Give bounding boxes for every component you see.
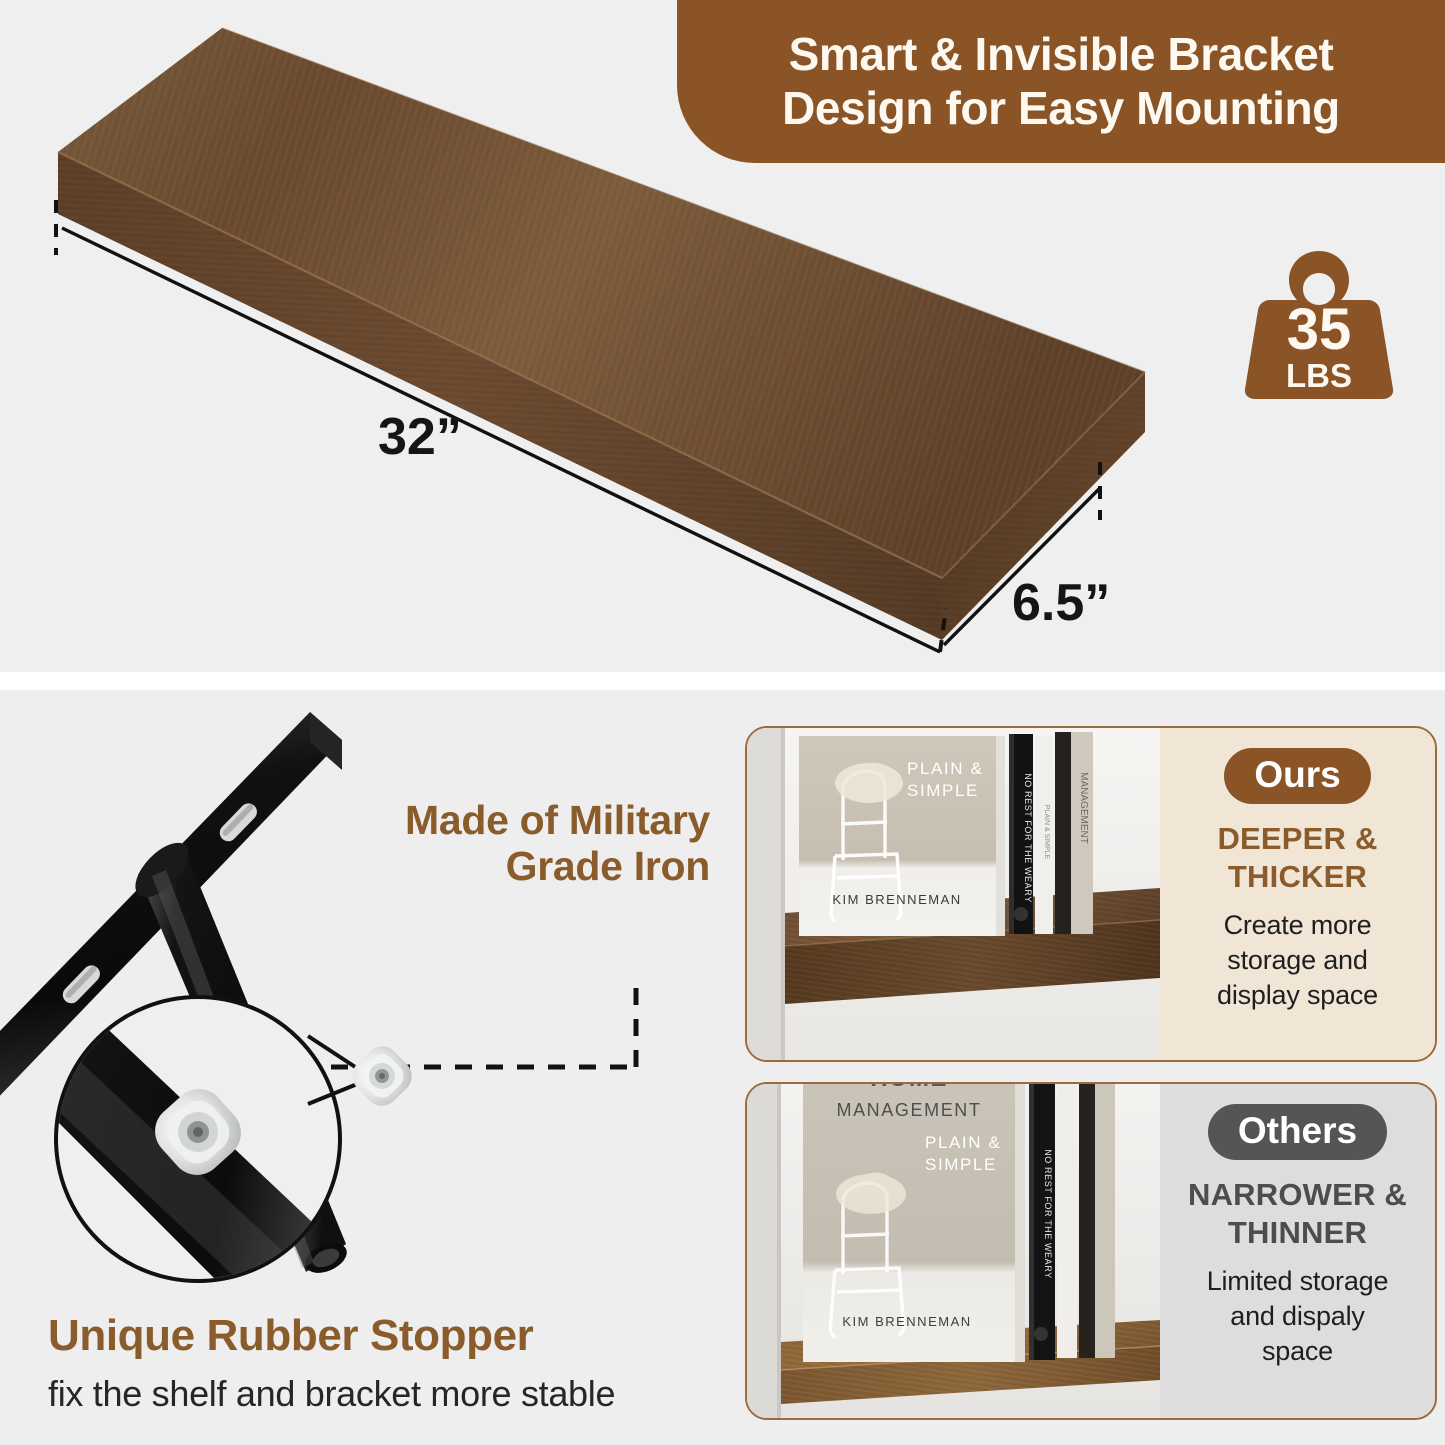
others-photo: HOME MANAGEMENT bbox=[747, 1084, 1160, 1418]
infographic-page: 32” 6.5” Smart & Invisible Bracket Desig… bbox=[0, 0, 1445, 1445]
others-text-panel: Others NARROWER & THINNER Limited storag… bbox=[1160, 1084, 1435, 1418]
book-title-management: MANAGEMENT bbox=[836, 1100, 981, 1120]
military-heading-line-2: Grade Iron bbox=[330, 844, 710, 890]
comparison-card-ours: PLAIN & SIMPLE KIM BRENNEMAN NO REST FOR… bbox=[745, 726, 1437, 1062]
weight-value: 35 bbox=[1287, 297, 1352, 362]
ours-title: DEEPER & THICKER bbox=[1217, 820, 1377, 896]
book-spine-no-rest: NO REST FOR THE WEARY bbox=[1029, 1084, 1055, 1360]
length-dimension-label: 32” bbox=[378, 407, 462, 467]
bracket-comparison-section: Made of Military Grade Iron Unique Rubbe… bbox=[0, 690, 1445, 1445]
weight-icon: 35 LBS bbox=[1241, 247, 1397, 403]
book-home-management: HOME MANAGEMENT bbox=[803, 1084, 1025, 1362]
book-plain-simple: PLAIN & SIMPLE KIM BRENNEMAN bbox=[799, 736, 1005, 936]
ours-title-line-2: THICKER bbox=[1217, 858, 1377, 896]
svg-text:PLAIN & SIMPLE: PLAIN & SIMPLE bbox=[1043, 805, 1050, 860]
header-banner: Smart & Invisible Bracket Design for Eas… bbox=[677, 0, 1445, 163]
book-spine-white bbox=[1057, 1084, 1077, 1358]
others-badge: Others bbox=[1208, 1104, 1387, 1160]
others-title: NARROWER & THINNER bbox=[1188, 1176, 1407, 1252]
weight-unit: LBS bbox=[1286, 357, 1352, 394]
comparison-card-others: HOME MANAGEMENT bbox=[745, 1082, 1437, 1420]
book-spine-no-rest: NO REST FOR THE WEARY bbox=[1009, 734, 1033, 934]
rubber-stopper bbox=[345, 1039, 419, 1113]
others-title-line-2: THINNER bbox=[1188, 1214, 1407, 1252]
book-title-line-2: SIMPLE bbox=[925, 1155, 997, 1174]
book-spine-grey bbox=[1079, 1084, 1115, 1358]
shelf-dimensions-section: 32” 6.5” Smart & Invisible Bracket Desig… bbox=[0, 0, 1445, 672]
military-heading-line-1: Made of Military bbox=[330, 798, 710, 844]
ours-text-panel: Ours DEEPER & THICKER Create more storag… bbox=[1160, 728, 1435, 1060]
depth-dimension-label: 6.5” bbox=[1012, 573, 1110, 633]
others-desc-line-1: Limited storage bbox=[1207, 1264, 1389, 1299]
others-desc-line-2: and dispaly bbox=[1207, 1299, 1389, 1334]
banner-line-2: Design for Easy Mounting bbox=[782, 82, 1340, 135]
svg-text:MANAGEMENT: MANAGEMENT bbox=[1078, 772, 1089, 844]
others-description: Limited storage and dispaly space bbox=[1207, 1264, 1389, 1369]
book-author: KIM BRENNEMAN bbox=[842, 1314, 971, 1329]
svg-text:NO REST FOR THE WEARY: NO REST FOR THE WEARY bbox=[1043, 1149, 1053, 1279]
ours-photo: PLAIN & SIMPLE KIM BRENNEMAN NO REST FOR… bbox=[747, 728, 1160, 1060]
rubber-stopper-heading: Unique Rubber Stopper bbox=[48, 1311, 533, 1361]
others-desc-line-3: space bbox=[1207, 1334, 1389, 1369]
section-divider bbox=[0, 672, 1445, 690]
banner-line-1: Smart & Invisible Bracket bbox=[789, 28, 1334, 81]
others-title-line-1: NARROWER & bbox=[1188, 1176, 1407, 1214]
book-author: KIM BRENNEMAN bbox=[832, 892, 961, 907]
book-spine-white: PLAIN & SIMPLE bbox=[1035, 736, 1053, 934]
book-title-line-1: PLAIN & bbox=[907, 759, 983, 778]
weight-capacity-badge: 35 LBS bbox=[1241, 247, 1397, 403]
book-title-line-2: SIMPLE bbox=[907, 781, 979, 800]
ours-desc-line-3: display space bbox=[1217, 978, 1378, 1013]
rubber-stopper-subtitle: fix the shelf and bracket more stable bbox=[48, 1373, 615, 1415]
bracket-product-image bbox=[0, 690, 730, 1324]
ours-desc-line-1: Create more bbox=[1217, 908, 1378, 943]
book-spine-management: MANAGEMENT bbox=[1055, 732, 1093, 934]
ours-desc-line-2: storage and bbox=[1217, 943, 1378, 978]
ours-badge: Ours bbox=[1224, 748, 1370, 804]
ours-title-line-1: DEEPER & bbox=[1217, 820, 1377, 858]
ours-description: Create more storage and display space bbox=[1217, 908, 1378, 1013]
military-grade-heading: Made of Military Grade Iron bbox=[330, 798, 710, 890]
dashed-callout-line bbox=[300, 984, 636, 1067]
magnifier-circle bbox=[0, 984, 420, 1324]
book-title-line-1: PLAIN & bbox=[925, 1133, 1001, 1152]
book-title-top: HOME bbox=[870, 1084, 948, 1092]
svg-text:NO REST FOR THE WEARY: NO REST FOR THE WEARY bbox=[1023, 773, 1033, 903]
